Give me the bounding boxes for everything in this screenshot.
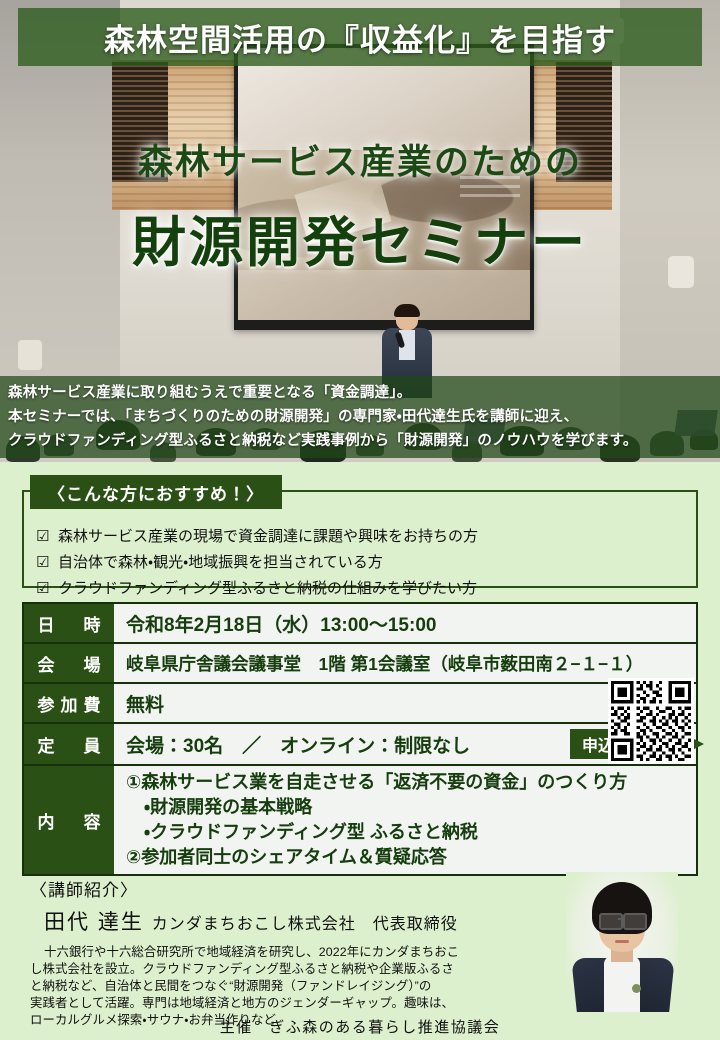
description-line-1: 森林サービス産業に取り組むうえで重要となる「資金調達」。 (8, 381, 720, 405)
speaker-name-line: 田代 達生 カンダまちおこし株式会社 代表取締役 (44, 906, 458, 936)
portrait-lapel-pin (632, 984, 641, 993)
speaker-name: 田代 達生 (44, 911, 144, 934)
recommend-list: ☑森林サービス産業の現場で資金調達に課題や興味をお持ちの方☑自治体で森林・観光・… (36, 527, 676, 605)
portrait-glasses-right (623, 913, 647, 930)
recommend-item-label: クラウドファンディング型ふるさと納税の仕組みを学びたい方 (58, 579, 477, 599)
recommend-item-label: 森林サービス産業の現場で資金調達に課題や興味をお持ちの方 (58, 527, 478, 547)
portrait-mouth (615, 940, 629, 943)
content-line-2: ・財源開発の基本戦略 (126, 795, 696, 820)
flyer-page: 森林空間活用の『収益化』を目指す 森林サービス産業のための 財源開発セミナー 森… (0, 0, 720, 1040)
recommend-item-2: ☑自治体で森林・観光・地域振興を担当されている方 (36, 553, 676, 573)
header-banner-text: 森林空間活用の『収益化』を目指す (18, 8, 702, 66)
content-line-1: ①森林サービス業を自走させる「返済不要の資金」のつくり方 (126, 770, 696, 795)
table-label-capacity: 定 員 (24, 724, 114, 764)
info-table: 日 時 令和8年2月18日（水）13:00〜15:00 会 場 岐阜県庁舎議会議… (22, 602, 698, 876)
table-value-venue: 岐阜県庁舎議会議事堂 1階 第1会議室（岐阜市薮田南２−１−１） (114, 644, 696, 682)
capacity-text: 会場：30名 ／ オンライン：制限なし (126, 731, 470, 758)
qr-code-svg (611, 681, 691, 761)
portrait-glasses-bridge (618, 918, 625, 920)
checkbox-icon: ☑ (36, 553, 58, 573)
checkbox-icon: ☑ (36, 579, 58, 599)
table-label-venue: 会 場 (24, 644, 114, 682)
description-overlay: 森林サービス産業に取り組むうえで重要となる「資金調達」。本セミナーでは、「まちづ… (0, 376, 720, 458)
qr-code-icon[interactable] (608, 678, 694, 764)
content-line-3: ・クラウドファンディング型 ふるさと納税 (126, 820, 696, 845)
table-row-content: 内 容 ①森林サービス業を自走させる「返済不要の資金」のつくり方 ・財源開発の基… (24, 766, 696, 874)
table-row-fee: 参加費 無料 (24, 684, 696, 724)
speaker-section-title: 〈講師紹介〉 (30, 876, 138, 901)
title-subtitle: 森林サービス産業のための (0, 134, 720, 185)
table-value-content: ①森林サービス業を自走させる「返済不要の資金」のつくり方 ・財源開発の基本戦略 … (114, 766, 696, 874)
content-line-4: ②参加者同士のシェアタイム＆質疑応答 (126, 845, 696, 870)
speaker-bio-line-4: 実践者として活躍。専門は地域経済と地方のジェンダーギャップ。趣味は、 (30, 995, 550, 1012)
speaker-bio-line-3: と納税など、自治体と民間をつなぐ“財源開発（ファンドレイジング）”の (30, 978, 550, 995)
description-line-3: クラウドファンディング型ふるさと納税など実践事例から「財源開発」のノウハウを学び… (8, 429, 720, 453)
table-row-capacity: 定 員 会場：30名 ／ オンライン：制限なし 申込フォーム (24, 724, 696, 766)
speaker-org: カンダまちおこし株式会社 代表取締役 (152, 916, 458, 933)
portrait-glasses-left (599, 913, 623, 930)
speaker-bio-line-2: し株式会社を設立。クラウドファンディング型ふるさと納税や企業版ふるさ (30, 961, 550, 978)
recommend-item-label: 自治体で森林・観光・地域振興を担当されている方 (58, 553, 383, 573)
speaker-bio-line-1: 十六銀行や十六総合研究所で地域経済を研究し、2022年にカンダまちおこ (30, 944, 550, 961)
host-organization: 主催 ぎふ森のある暮らし推進協議会 (0, 1016, 720, 1037)
description-line-2: 本セミナーでは、「まちづくりのための財源開発」の専門家・田代達生氏を講師に迎え、 (8, 405, 720, 429)
table-row-date: 日 時 令和8年2月18日（水）13:00〜15:00 (24, 604, 696, 644)
table-label-date: 日 時 (24, 604, 114, 642)
table-label-content: 内 容 (24, 766, 114, 874)
hero-photo-seminar-hall: 森林空間活用の『収益化』を目指す 森林サービス産業のための 財源開発セミナー 森… (0, 0, 720, 462)
recommend-tab-label: 〈こんな方におすすめ！〉 (30, 475, 282, 509)
speaker-portrait (566, 872, 678, 1012)
title-main: 財源開発セミナー (0, 198, 720, 277)
table-value-date: 令和8年2月18日（水）13:00〜15:00 (114, 604, 696, 642)
recommend-item-3: ☑クラウドファンディング型ふるさと納税の仕組みを学びたい方 (36, 579, 676, 599)
table-row-venue: 会 場 岐阜県庁舎議会議事堂 1階 第1会議室（岐阜市薮田南２−１−１） (24, 644, 696, 684)
checkbox-icon: ☑ (36, 527, 58, 547)
table-label-fee: 参加費 (24, 684, 114, 722)
presenter-hair (394, 304, 420, 317)
recommend-item-1: ☑森林サービス産業の現場で資金調達に課題や興味をお持ちの方 (36, 527, 676, 547)
